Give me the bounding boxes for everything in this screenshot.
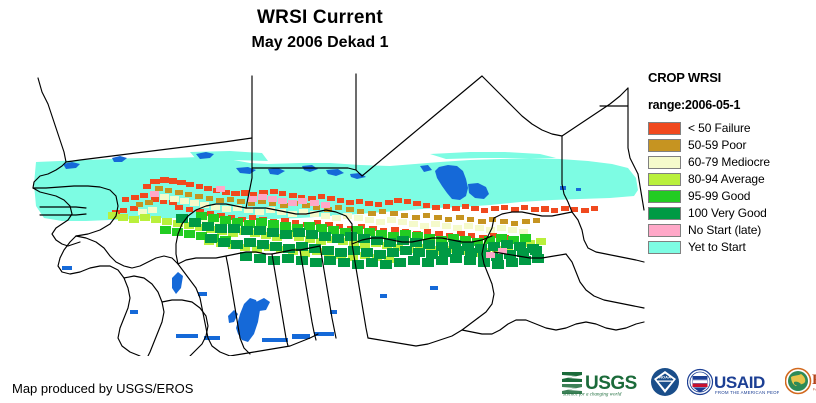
logo-bar: USGS science for a changing world NOAA U… (560, 364, 816, 400)
legend-item-mediocre[interactable]: 60-79 Mediocre (648, 154, 816, 170)
page-subtitle: May 2006 Dekad 1 (0, 32, 640, 54)
svg-text:science for a changing world: science for a changing world (563, 393, 622, 398)
legend-label-no-start: No Start (late) (688, 224, 761, 237)
legend-swatch-average (648, 173, 681, 186)
legend-label-failure: < 50 Failure (688, 122, 751, 135)
legend-label-poor: 50-59 Poor (688, 139, 746, 152)
usgs-logo[interactable]: USGS science for a changing world (560, 367, 646, 397)
legend-swatch-yet-to-start (648, 241, 681, 254)
map-legend: CROP WRSI range:2006-05-1 < 50 Failure 5… (648, 70, 816, 256)
legend-item-average[interactable]: 80-94 Average (648, 171, 816, 187)
legend-label-very-good: 100 Very Good (688, 207, 767, 220)
legend-item-very-good[interactable]: 100 Very Good (648, 205, 816, 221)
legend-range: range:2006-05-1 (648, 97, 816, 113)
usgs-wave-mark (562, 372, 582, 394)
legend-label-mediocre: 60-79 Mediocre (688, 156, 770, 169)
legend-heading: CROP WRSI (648, 70, 816, 86)
map-credit: Map produced by USGS/EROS (12, 381, 193, 397)
legend-item-failure[interactable]: < 50 Failure (648, 120, 816, 136)
usaid-logo[interactable]: USAID FROM THE AMERICAN PEOPLE (687, 367, 779, 397)
legend-items: < 50 Failure 50-59 Poor 60-79 Mediocre 8… (648, 120, 816, 255)
legend-swatch-mediocre (648, 156, 681, 169)
map-canvas[interactable] (0, 66, 645, 356)
noaa-logo[interactable]: NOAA (650, 367, 680, 397)
legend-swatch-failure (648, 122, 681, 135)
legend-swatch-very-good (648, 207, 681, 220)
legend-label-average: 80-94 Average (688, 173, 765, 186)
svg-text:NOAA: NOAA (659, 375, 671, 380)
legend-item-poor[interactable]: 50-59 Poor (648, 137, 816, 153)
page-title: WRSI Current (0, 6, 640, 30)
legend-label-good: 95-99 Good (688, 190, 750, 203)
svg-text:FEWS NET: FEWS NET (812, 372, 816, 388)
legend-swatch-good (648, 190, 681, 203)
legend-item-no-start[interactable]: No Start (late) (648, 222, 816, 238)
legend-label-yet-to-start: Yet to Start (688, 241, 746, 254)
map-svg (0, 66, 645, 356)
fewsnet-logo[interactable]: FEWS NET FAMINE EARLY WARNING SYSTEMS NE… (785, 366, 816, 398)
legend-item-yet-to-start[interactable]: Yet to Start (648, 239, 816, 255)
legend-swatch-poor (648, 139, 681, 152)
title-block: WRSI Current May 2006 Dekad 1 (0, 6, 640, 54)
legend-item-good[interactable]: 95-99 Good (648, 188, 816, 204)
legend-swatch-no-start (648, 224, 681, 237)
svg-text:USGS: USGS (585, 373, 637, 394)
svg-text:FROM THE AMERICAN PEOPLE: FROM THE AMERICAN PEOPLE (715, 390, 779, 395)
